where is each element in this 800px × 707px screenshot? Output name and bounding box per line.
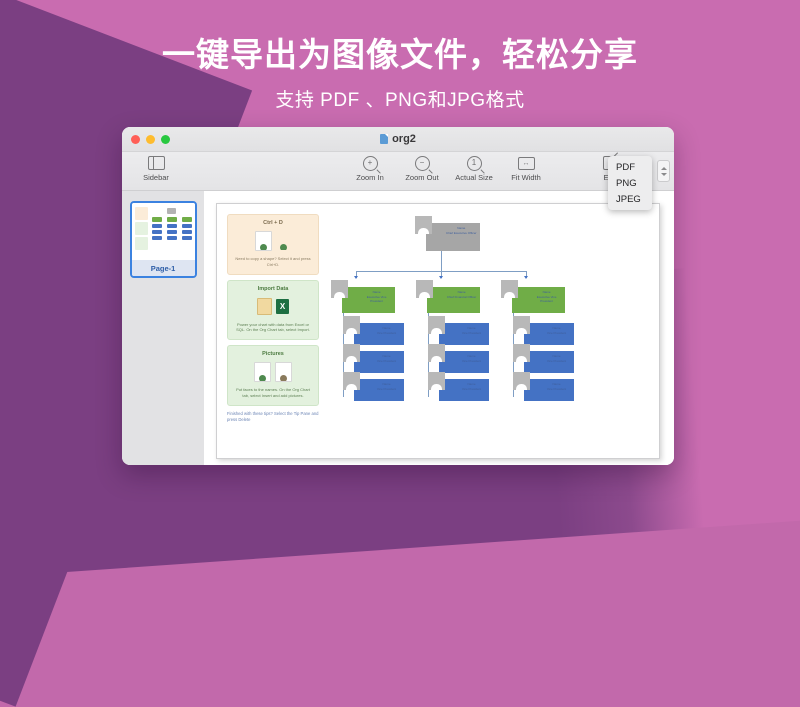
toolbar-zoom-out-button[interactable]: − Zoom Out xyxy=(396,154,448,182)
excel-and-table-icons: X xyxy=(233,296,313,318)
avatar xyxy=(343,344,360,362)
table-icon xyxy=(257,298,272,315)
toolbar-sidebar-label: Sidebar xyxy=(143,173,169,182)
toolbar-fit-width-label: Fit Width xyxy=(511,173,541,182)
connector-arrow xyxy=(354,276,358,279)
toolbar-zoom-group: + Zoom In − Zoom Out 1 Actual Size ↔ Fit… xyxy=(344,154,552,182)
sidebar-icon xyxy=(148,154,165,172)
window-titlebar: org2 xyxy=(122,127,674,152)
org-node-box: NameExecutive Vice President xyxy=(342,287,395,313)
org-node-label: NameExecutive Vice President xyxy=(360,290,393,304)
tip-card-title: Pictures xyxy=(233,351,313,357)
avatar xyxy=(501,280,518,298)
headline-subtitle: 支持 PDF 、PNG和JPG格式 xyxy=(0,85,800,112)
excel-icon: X xyxy=(276,299,289,314)
tip-card-title: Ctrl + D xyxy=(233,220,313,226)
org-chart: NameChief Executive Officer xyxy=(329,212,653,452)
toolbar-zoom-in-label: Zoom In xyxy=(356,173,384,182)
export-option-pdf[interactable]: PDF xyxy=(608,159,652,175)
fit-width-icon: ↔ xyxy=(518,154,535,172)
toolbar-sidebar-button[interactable]: Sidebar xyxy=(130,154,182,182)
magnifier-one-icon: 1 xyxy=(467,154,482,172)
org-node-label: NameVice President xyxy=(541,354,572,363)
toolbar-actual-size-button[interactable]: 1 Actual Size xyxy=(448,154,500,182)
avatar xyxy=(331,280,348,298)
org-node-box: NameChief Financial Officer xyxy=(427,287,480,313)
avatar xyxy=(428,372,445,390)
avatar xyxy=(428,316,445,334)
org-node-label: NameVice President xyxy=(456,382,487,391)
avatar xyxy=(513,344,530,362)
tip-pane[interactable]: Ctrl + D Need to copy a shape? Select it… xyxy=(227,214,319,423)
stepper-chevrons-icon[interactable] xyxy=(657,160,670,182)
thumbnail-tip-pane xyxy=(135,207,148,252)
tip-card-shortcut[interactable]: Ctrl + D Need to copy a shape? Select it… xyxy=(227,214,319,275)
page-thumbnail-sidebar: Page-1 xyxy=(122,191,204,465)
thumbnail-label: Page-1 xyxy=(132,260,195,276)
toolbar-zoom-out-label: Zoom Out xyxy=(405,173,438,182)
document-icon xyxy=(380,134,388,144)
org-node-label: NameVice President xyxy=(541,326,572,335)
two-person-photos-icon xyxy=(233,361,313,383)
org-node-box: NameChief Executive Officer xyxy=(426,223,480,251)
export-option-png[interactable]: PNG xyxy=(608,175,652,191)
org-node-box: NameExecutive Vice President xyxy=(512,287,565,313)
tip-card-body: Put faces to the names. On the Org Chart… xyxy=(233,387,313,399)
avatar xyxy=(343,372,360,390)
org-node-label: NameVice President xyxy=(371,354,402,363)
tip-card-pictures[interactable]: Pictures Put faces to the names. On the … xyxy=(227,345,319,406)
org-node-box: NameVice President xyxy=(354,379,404,401)
tip-card-body: Power your chart with data from Excel or… xyxy=(233,322,313,334)
org-node-box: NameVice President xyxy=(524,379,574,401)
org-node-box: NameVice President xyxy=(439,351,489,373)
org-node-label: NameVice President xyxy=(456,354,487,363)
avatar xyxy=(343,316,360,334)
window-body: Page-1 Ctrl + D Need to copy a shape? Se… xyxy=(122,191,674,465)
avatar xyxy=(416,280,433,298)
org-node-box: NameVice President xyxy=(439,323,489,345)
org-node-label: NameVice President xyxy=(371,326,402,335)
thumbnail-org-chart xyxy=(152,207,192,257)
tip-card-body: Need to copy a shape? Select it and pres… xyxy=(233,256,313,268)
magnifier-minus-icon: − xyxy=(415,154,430,172)
org-node-label: NameChief Financial Officer xyxy=(445,290,478,299)
chevron-down-icon xyxy=(661,173,667,176)
window-title-group: org2 xyxy=(122,127,674,151)
org-node-label: NameExecutive Vice President xyxy=(530,290,563,304)
thumbnail-preview xyxy=(132,203,195,260)
org-node-box: NameVice President xyxy=(439,379,489,401)
connector-arrow xyxy=(439,276,443,279)
document-page: Ctrl + D Need to copy a shape? Select it… xyxy=(216,203,660,459)
tip-card-title: Import Data xyxy=(233,286,313,292)
org-node-box: NameVice President xyxy=(524,351,574,373)
avatar xyxy=(415,216,432,234)
document-canvas[interactable]: Ctrl + D Need to copy a shape? Select it… xyxy=(204,191,674,465)
org-node-label: NameChief Executive Officer xyxy=(445,226,478,235)
magnifier-plus-icon: + xyxy=(363,154,378,172)
org-node-label: NameVice President xyxy=(371,382,402,391)
connector-arrow xyxy=(524,276,528,279)
window-title: org2 xyxy=(392,133,416,145)
headline-title: 一键导出为图像文件，轻松分享 xyxy=(0,34,800,76)
tip-card-import[interactable]: Import Data X Power your chart with data… xyxy=(227,280,319,341)
toolbar: Sidebar + Zoom In − Zoom Out 1 Actual Si… xyxy=(122,152,674,191)
org-node-box: NameVice President xyxy=(524,323,574,345)
toolbar-actual-size-label: Actual Size xyxy=(455,173,493,182)
two-person-shapes-icon xyxy=(233,230,313,252)
org-node-label: NameVice President xyxy=(541,382,572,391)
export-format-menu[interactable]: PDF PNG JPEG xyxy=(608,156,652,210)
tip-pane-footer: Finished with these tips? Select the Tip… xyxy=(227,411,319,424)
connector xyxy=(441,251,442,271)
toolbar-fit-width-button[interactable]: ↔ Fit Width xyxy=(500,154,552,182)
chevron-up-icon xyxy=(661,167,667,170)
page-thumbnail-item[interactable]: Page-1 xyxy=(130,201,197,278)
avatar xyxy=(428,344,445,362)
org-node-box: NameVice President xyxy=(354,323,404,345)
avatar xyxy=(513,316,530,334)
avatar xyxy=(513,372,530,390)
app-window: org2 Sidebar + Zoom In − Zoom Out 1 Actu… xyxy=(122,127,674,465)
org-node-label: NameVice President xyxy=(456,326,487,335)
export-option-jpeg[interactable]: JPEG xyxy=(608,191,652,207)
toolbar-left-group: Sidebar xyxy=(130,154,182,182)
org-node-box: NameVice President xyxy=(354,351,404,373)
toolbar-zoom-in-button[interactable]: + Zoom In xyxy=(344,154,396,182)
promo-headline-block: 一键导出为图像文件，轻松分享 支持 PDF 、PNG和JPG格式 xyxy=(0,34,800,112)
